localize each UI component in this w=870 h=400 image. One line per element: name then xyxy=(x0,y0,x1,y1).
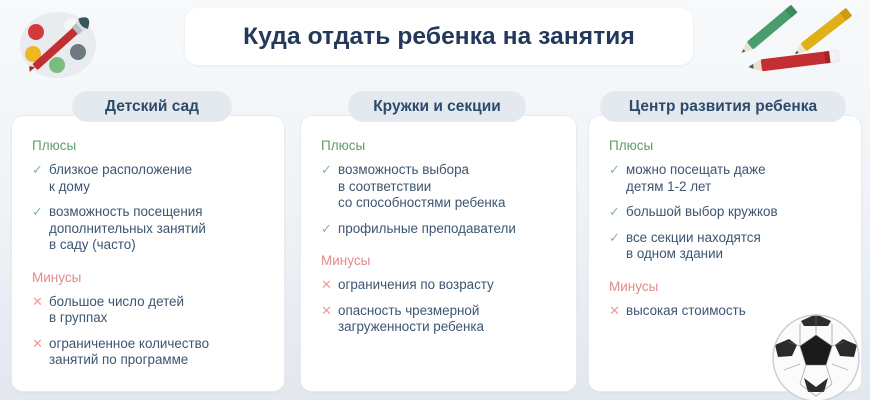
list-item-text: большой выбор кружков xyxy=(626,204,845,221)
plus-heading: Плюсы xyxy=(609,138,845,153)
check-icon: ✓ xyxy=(609,204,626,221)
plus-list: ✓ возможность выбора в соответствии со с… xyxy=(321,162,560,237)
card-badge-development-center: Центр развития ребенка xyxy=(600,91,846,122)
minus-list: ✕ ограничения по возрасту ✕ опасность чр… xyxy=(321,277,560,336)
list-item-text: ограниченное количество занятий по прогр… xyxy=(49,336,268,369)
plus-list: ✓ можно посещать даже детям 1-2 лет ✓ бо… xyxy=(609,162,845,263)
list-item: ✓ можно посещать даже детям 1-2 лет xyxy=(609,162,845,195)
list-item-text: опасность чрезмерной загруженности ребен… xyxy=(338,303,560,336)
badge-label: Центр развития ребенка xyxy=(629,98,817,116)
plus-list: ✓ близкое расположение к дому ✓ возможно… xyxy=(32,162,268,254)
list-item: ✓ большой выбор кружков xyxy=(609,204,845,221)
list-item: ✓ все секции находятся в одном здании xyxy=(609,230,845,263)
list-item-text: профильные преподаватели xyxy=(338,221,560,238)
comparison-cards: Плюсы ✓ близкое расположение к дому ✓ во… xyxy=(0,0,870,400)
plus-heading: Плюсы xyxy=(321,138,560,153)
list-item-text: большое число детей в группах xyxy=(49,294,268,327)
plus-heading: Плюсы xyxy=(32,138,268,153)
list-item: ✓ близкое расположение к дому xyxy=(32,162,268,195)
check-icon: ✓ xyxy=(32,204,49,221)
cross-icon: ✕ xyxy=(609,303,626,320)
list-item-text: возможность посещения дополнительных зан… xyxy=(49,204,268,254)
cross-icon: ✕ xyxy=(32,336,49,353)
card-badge-clubs-sections: Кружки и секции xyxy=(348,91,526,122)
check-icon: ✓ xyxy=(321,162,338,179)
minus-list: ✕ большое число детей в группах ✕ ограни… xyxy=(32,294,268,369)
list-item: ✕ ограничения по возрасту xyxy=(321,277,560,294)
cross-icon: ✕ xyxy=(32,294,49,311)
cross-icon: ✕ xyxy=(321,277,338,294)
check-icon: ✓ xyxy=(609,162,626,179)
minus-heading: Минусы xyxy=(609,279,845,294)
list-item: ✓ возможность посещения дополнительных з… xyxy=(32,204,268,254)
list-item-text: возможность выбора в соответствии со спо… xyxy=(338,162,560,212)
list-item-text: ограничения по возрасту xyxy=(338,277,560,294)
list-item: ✕ ограниченное количество занятий по про… xyxy=(32,336,268,369)
soccer-ball-icon xyxy=(770,312,862,400)
list-item-text: близкое расположение к дому xyxy=(49,162,268,195)
list-item: ✕ опасность чрезмерной загруженности реб… xyxy=(321,303,560,336)
cross-icon: ✕ xyxy=(321,303,338,320)
check-icon: ✓ xyxy=(321,221,338,238)
card-kindergarten: Плюсы ✓ близкое расположение к дому ✓ во… xyxy=(11,115,285,392)
list-item: ✕ большое число детей в группах xyxy=(32,294,268,327)
list-item: ✓ профильные преподаватели xyxy=(321,221,560,238)
check-icon: ✓ xyxy=(609,230,626,247)
list-item: ✓ возможность выбора в соответствии со с… xyxy=(321,162,560,212)
badge-label: Детский сад xyxy=(105,98,199,116)
minus-heading: Минусы xyxy=(32,270,268,285)
minus-heading: Минусы xyxy=(321,253,560,268)
check-icon: ✓ xyxy=(32,162,49,179)
list-item-text: можно посещать даже детям 1-2 лет xyxy=(626,162,845,195)
card-badge-kindergarten: Детский сад xyxy=(72,91,232,122)
card-clubs-sections: Плюсы ✓ возможность выбора в соответстви… xyxy=(300,115,577,392)
list-item-text: все секции находятся в одном здании xyxy=(626,230,845,263)
badge-label: Кружки и секции xyxy=(373,98,501,116)
